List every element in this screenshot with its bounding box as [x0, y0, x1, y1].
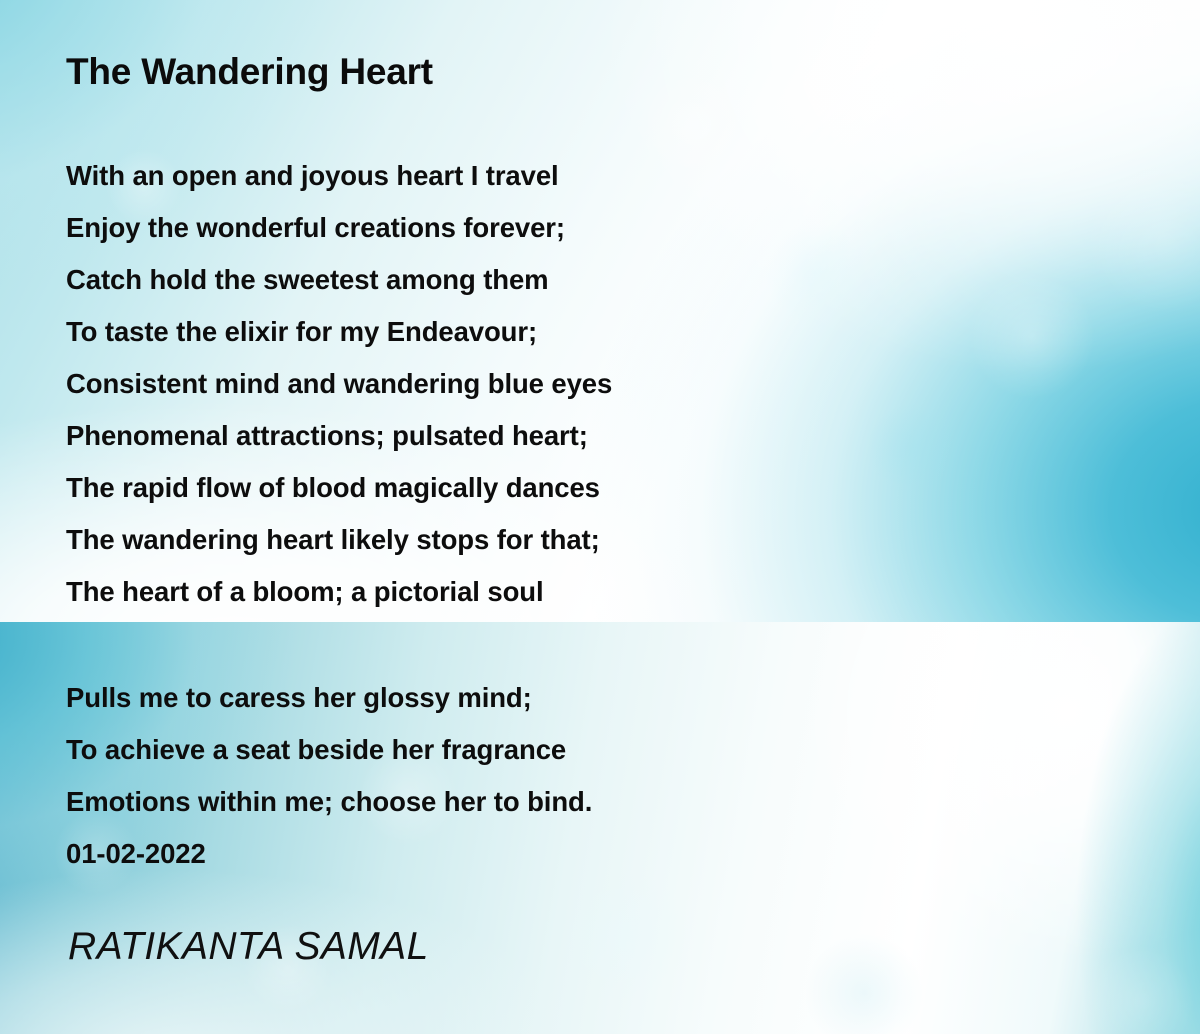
poem-stanza-two: Pulls me to caress her glossy mind; To a…	[66, 672, 592, 880]
poem-line: Pulls me to caress her glossy mind;	[66, 672, 592, 724]
poem-line: Emotions within me; choose her to bind.	[66, 776, 592, 828]
poem-line: To achieve a seat beside her fragrance	[66, 724, 592, 776]
bottom-panel-content: Pulls me to caress her glossy mind; To a…	[0, 0, 1200, 1034]
poem-date: 01-02-2022	[66, 828, 592, 880]
poem-author-signature: RATIKANTA SAMAL	[68, 925, 429, 969]
poem-image-card: The Wandering Heart With an open and joy…	[0, 0, 1200, 1034]
